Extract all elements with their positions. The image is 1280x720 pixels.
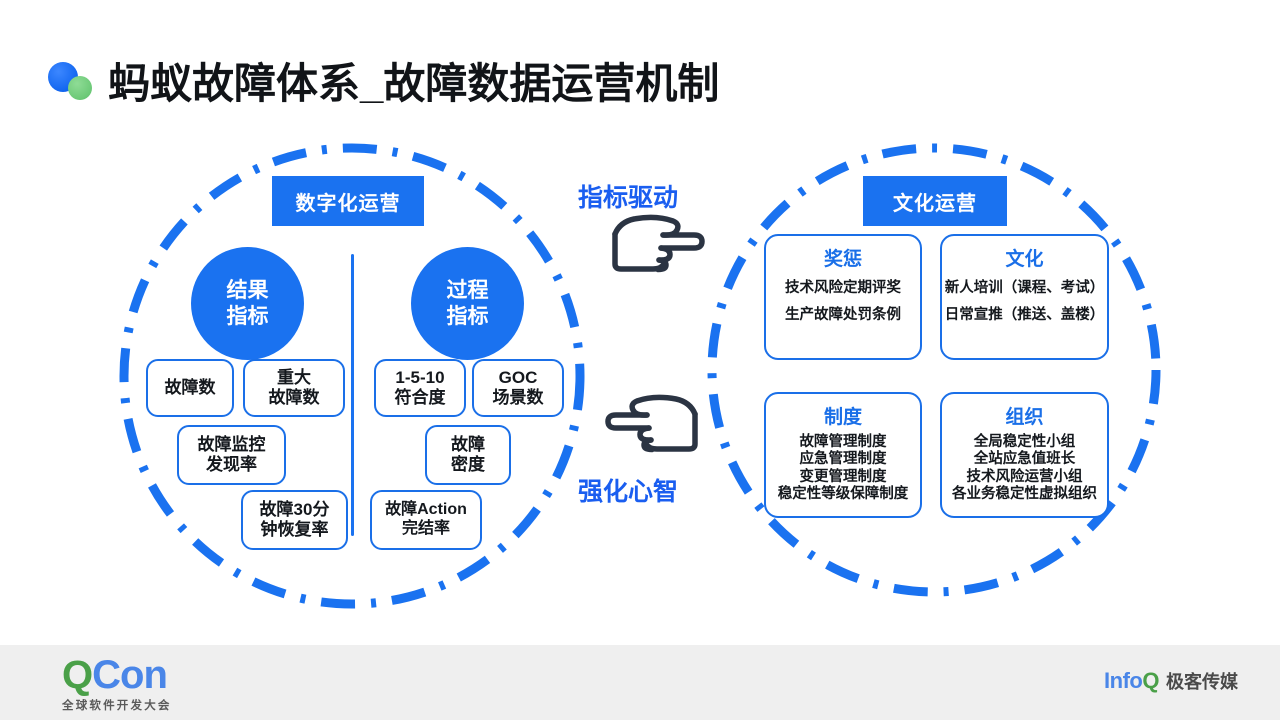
- chip-culture-operation-label: 文化运营: [893, 187, 977, 216]
- metric-line1: GOC: [499, 368, 538, 388]
- chip-digital-operation: 数字化运营: [272, 176, 424, 226]
- metric-line2: 故障数: [269, 388, 320, 408]
- bubble-process-metrics-line1: 过程: [447, 278, 489, 304]
- bubble-result-metrics-line2: 指标: [227, 304, 269, 330]
- metric-box-goc-scenarios: GOC 场景数: [472, 359, 564, 417]
- metric-line1: 故障Action: [385, 501, 467, 520]
- qcon-con-letters: Con: [92, 653, 167, 697]
- metric-line2: 发现率: [206, 455, 257, 475]
- metric-line2: 符合度: [395, 388, 446, 408]
- qcon-q-letter: Q: [62, 653, 92, 697]
- card-systems: 制度 故障管理制度 应急管理制度 变更管理制度 稳定性等级保障制度: [764, 392, 922, 518]
- card-line: 变更管理制度: [800, 470, 887, 485]
- card-rewards-penalties: 奖惩 技术风险定期评奖 生产故障处罚条例: [764, 234, 922, 360]
- slide-footer: [0, 645, 1280, 720]
- card-title: 文化: [1005, 244, 1043, 271]
- metric-line1: 1-5-10: [395, 368, 444, 388]
- bubble-process-metrics: 过程 指标: [411, 247, 524, 360]
- metric-box-major-fault-count: 重大 故障数: [243, 359, 345, 417]
- metric-box-fault-count: 故障数: [146, 359, 234, 417]
- slide-canvas: 蚂蚁故障体系_故障数据运营机制 数字化运营 结果 指标 故障数 重大 故障数 故…: [0, 0, 1280, 720]
- metric-line2: 钟恢复率: [261, 520, 329, 540]
- card-line: 稳定性等级保障制度: [778, 487, 909, 502]
- logo-green-circle-icon: [68, 76, 92, 100]
- card-line: 应急管理制度: [800, 452, 887, 467]
- card-organization: 组织 全局稳定性小组 全站应急值班长 技术风险运营小组 各业务稳定性虚拟组织: [940, 392, 1109, 518]
- metric-line1: 故障: [451, 435, 485, 455]
- card-title: 组织: [1005, 402, 1043, 429]
- infoq-info-letters: Info: [1104, 668, 1142, 694]
- chip-culture-operation: 文化运营: [863, 176, 1007, 226]
- bubble-result-metrics: 结果 指标: [191, 247, 304, 360]
- bubble-process-metrics-line2: 指标: [447, 304, 489, 330]
- hand-pointing-right-icon: [601, 212, 709, 279]
- metric-box-fault-action-completion: 故障Action 完结率: [370, 490, 482, 550]
- qcon-logo: QCon 全球软件开发大会: [62, 655, 172, 713]
- chip-digital-operation-label: 数字化运营: [296, 187, 401, 216]
- card-culture: 文化 新人培训（课程、考试） 日常宣推（推送、盖楼）: [940, 234, 1109, 360]
- card-title: 制度: [824, 402, 862, 429]
- card-line: 全局稳定性小组: [974, 435, 1076, 450]
- label-metric-driven: 指标驱动: [578, 178, 678, 214]
- card-line: 生产故障处罚条例: [785, 308, 901, 323]
- page-title: 蚂蚁故障体系_故障数据运营机制: [108, 50, 719, 111]
- ant-logo-icon: [46, 56, 98, 106]
- metric-line2: 密度: [451, 455, 485, 475]
- card-line: 故障管理制度: [800, 435, 887, 450]
- card-line: 全站应急值班长: [974, 452, 1076, 467]
- metric-line2: 完结率: [402, 520, 450, 539]
- infoq-chinese-label: 极客传媒: [1166, 668, 1238, 694]
- hand-pointing-left-icon: [601, 392, 709, 459]
- metric-box-1-5-10-compliance: 1-5-10 符合度: [374, 359, 466, 417]
- card-line: 各业务稳定性虚拟组织: [952, 487, 1097, 502]
- card-line: 新人培训（课程、考试）: [945, 281, 1105, 296]
- card-title: 奖惩: [824, 244, 862, 271]
- metric-box-fault-density: 故障 密度: [425, 425, 511, 485]
- qcon-subtitle: 全球软件开发大会: [62, 697, 172, 713]
- metric-line1: 故障监控: [198, 435, 266, 455]
- infoq-logo: Info Q 极客传媒: [1104, 668, 1238, 694]
- metric-line2: 场景数: [493, 388, 544, 408]
- card-line: 技术风险运营小组: [967, 470, 1083, 485]
- card-line: 日常宣推（推送、盖楼）: [945, 308, 1105, 323]
- metric-line1: 故障30分: [260, 500, 330, 520]
- slide-header: 蚂蚁故障体系_故障数据运营机制: [46, 50, 719, 111]
- metric-box-30min-recovery-rate: 故障30分 钟恢复率: [241, 490, 348, 550]
- infoq-q-letter: Q: [1142, 668, 1159, 694]
- metric-box-monitor-detect-rate: 故障监控 发现率: [177, 425, 286, 485]
- qcon-wordmark: QCon: [62, 655, 172, 695]
- label-strengthen-mindset: 强化心智: [578, 472, 678, 508]
- metric-line1: 故障数: [165, 378, 216, 398]
- metric-line1: 重大: [277, 368, 311, 388]
- bubble-result-metrics-line1: 结果: [227, 278, 269, 304]
- column-divider: [351, 254, 354, 536]
- card-line: 技术风险定期评奖: [785, 281, 901, 296]
